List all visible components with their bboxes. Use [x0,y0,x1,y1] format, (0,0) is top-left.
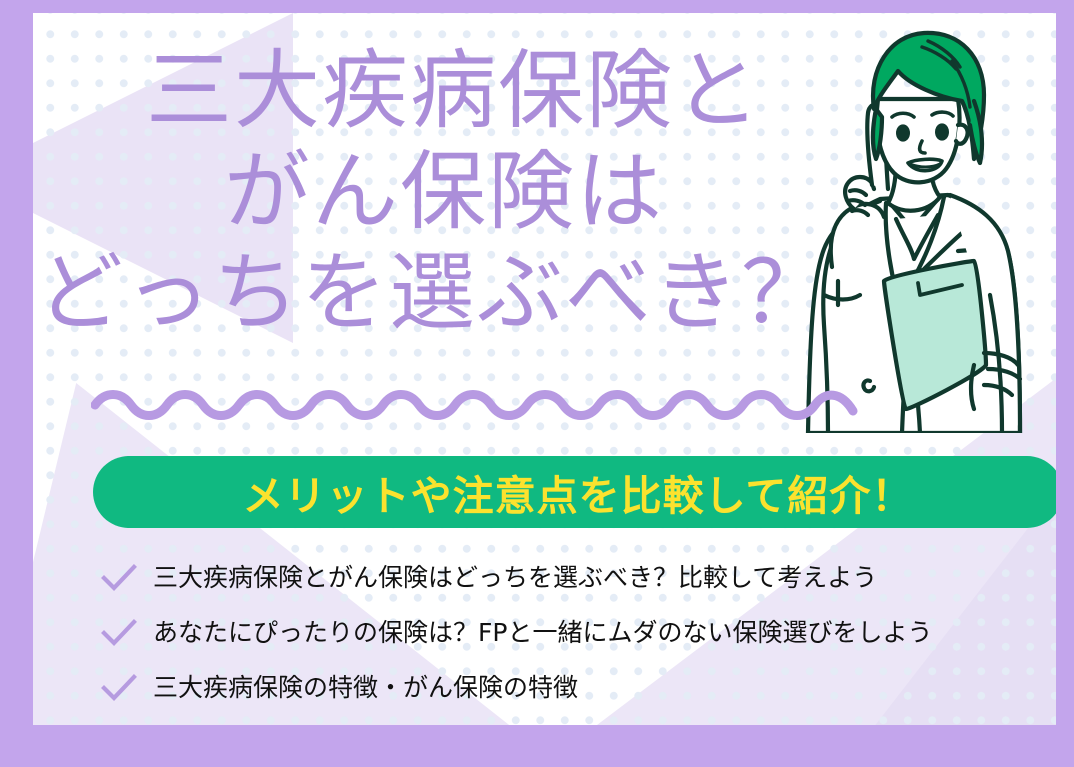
article-banner: 三大疾病保険と がん保険は どっちを選ぶべき？ メリットや注意点を比較して紹介！… [0,0,1074,767]
list-item-label: あなたにぴったりの保険は？FPと一緒にムダのない保険選びをしよう [153,618,932,648]
list-item-label: 三大疾病保険の特徴・がん保険の特徴 [153,673,578,703]
check-icon [101,618,137,648]
list-item: 三大疾病保険の特徴・がん保険の特徴 [101,660,1031,715]
title-line-3: どっちを選ぶべき？ [33,243,833,344]
page-title: 三大疾病保険と がん保険は どっちを選ぶべき？ [33,41,833,344]
wavy-underline-icon [91,389,861,427]
highlight-banner: メリットや注意点を比較して紹介！ [93,456,1056,528]
banner-card: 三大疾病保険と がん保険は どっちを選ぶべき？ メリットや注意点を比較して紹介！… [33,13,1056,725]
title-line-2: がん保険は [33,142,833,243]
bullet-list: 三大疾病保険とがん保険はどっちを選ぶべき？比較して考えよう あなたにぴったりの保… [101,550,1031,715]
title-line-1: 三大疾病保険と [33,41,833,142]
check-icon [101,673,137,703]
highlight-banner-label: メリットや注意点を比較して紹介！ [243,462,914,522]
check-icon [101,563,137,593]
list-item-label: 三大疾病保険とがん保険はどっちを選ぶべき？比較して考えよう [153,563,877,593]
list-item: あなたにぴったりの保険は？FPと一緒にムダのない保険選びをしよう [101,605,1031,660]
list-item: 三大疾病保険とがん保険はどっちを選ぶべき？比較して考えよう [101,550,1031,605]
